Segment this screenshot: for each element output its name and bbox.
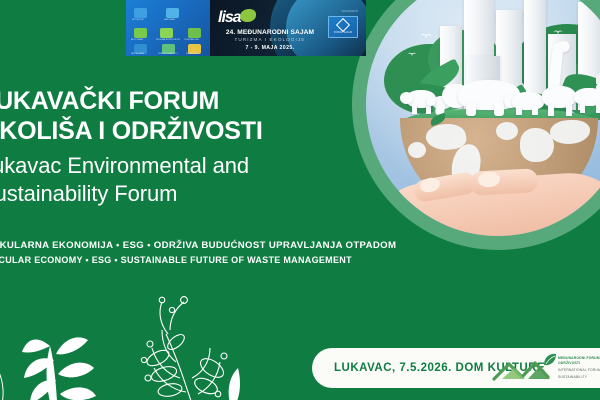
sponsor-logo [134,8,147,18]
tagline-bosnian: CIRKULARNA EKONOMIJA • ESG • ODRŽIVA BUD… [0,239,396,253]
banner-dates: 7 - 9. MAJA 2025. [214,45,326,51]
headline-line-4: Sustainability Forum [0,180,360,208]
deer-icon [580,102,585,113]
lamb-icon [426,97,436,106]
logo-line-4: SUSTAINABILITY [558,375,600,380]
sponsor-label: TURIZAM BiH [184,39,199,41]
baby-elephant-icon [516,106,522,115]
banner-subtitle: TURIZMA I EKOLOGIJE [214,37,326,42]
bird-icon [407,53,417,59]
sponsor-logo [166,8,179,18]
forum-logo-icon [492,353,558,383]
sheep-icon [400,92,413,104]
forum-logo-text: MEĐUNARODNI FORUM ODRŽIVOSTI INTERNATION… [558,356,600,380]
banner-title: 24. MEĐUNARODNI SAJAM [214,29,326,36]
elephant-icon [494,102,504,116]
banner-badge-caption: ORGANIZATOR [341,11,358,13]
continent-shape [520,128,554,162]
sponsor-label: ENERGIJA [186,53,198,55]
sheep-icon [412,104,417,114]
venue-date-pill[interactable]: LUKAVAC, 7.5.2026. DOM KULTURE MEĐUNAROD… [312,348,600,388]
poster-canvas: SPONZOR PARTNER EKO GRAD ZELENA BUDUĆNOS… [0,0,600,400]
headline-line-3: Lukavac Environmental and [0,152,360,180]
banner-organizer-badge[interactable]: BOSNA SAJAM [328,16,358,38]
tagline-english: CIRCULAR ECONOMY • ESG • SUSTAINABLE FUT… [0,253,396,267]
baby-elephant-icon [532,106,538,115]
sponsor-logo [160,28,173,38]
sponsor-label: PARTNER [164,19,175,21]
lisa-logo-text: lisa [218,8,241,28]
continent-shape [496,122,518,140]
banner-sponsor-grid: SPONZOR PARTNER EKO GRAD ZELENA BUDUĆNOS… [126,0,210,56]
sponsor-label: ZELENA BUDUĆNOST [156,39,180,41]
sponsor-label: ODRŽIVI RAZVOJ [158,53,178,55]
giraffe-icon [566,104,572,116]
sponsor-banner[interactable]: SPONZOR PARTNER EKO GRAD ZELENA BUDUĆNOS… [126,0,366,56]
headline-block: LUKAVAČKI FORUM OKOLIŠA I ODRŽIVOSTI Luk… [0,86,360,208]
diamond-icon [336,18,350,32]
sponsor-label: RECIKLAŽA [131,53,144,55]
tagline-block: CIRKULARNA EKONOMIJA • ESG • ODRŽIVA BUD… [0,239,396,267]
bird-icon [420,34,432,41]
deer-icon [596,102,600,113]
sponsor-logo [134,28,147,38]
sponsor-label: EKO GRAD [131,39,143,41]
lisa-logo-leaf-icon [240,9,256,22]
headline-line-2: OKOLIŠA I ODRŽIVOSTI [0,116,360,146]
bird-icon [553,31,563,37]
artwork-circle [366,0,600,236]
logo-line-3: INTERNATIONAL FORUM [558,368,600,373]
continent-shape [408,142,426,158]
logo-line-2: ODRŽIVOSTI [558,361,600,366]
elephant-icon [466,102,476,116]
headline-line-1: LUKAVAČKI FORUM [0,86,360,116]
giraffe-icon [548,104,554,116]
sponsor-label: SPONZOR [132,19,144,21]
botanical-decoration-middle [120,290,250,400]
sponsor-logo [188,28,201,38]
continent-shape [550,120,590,144]
lisa-logo: lisa [218,8,260,28]
